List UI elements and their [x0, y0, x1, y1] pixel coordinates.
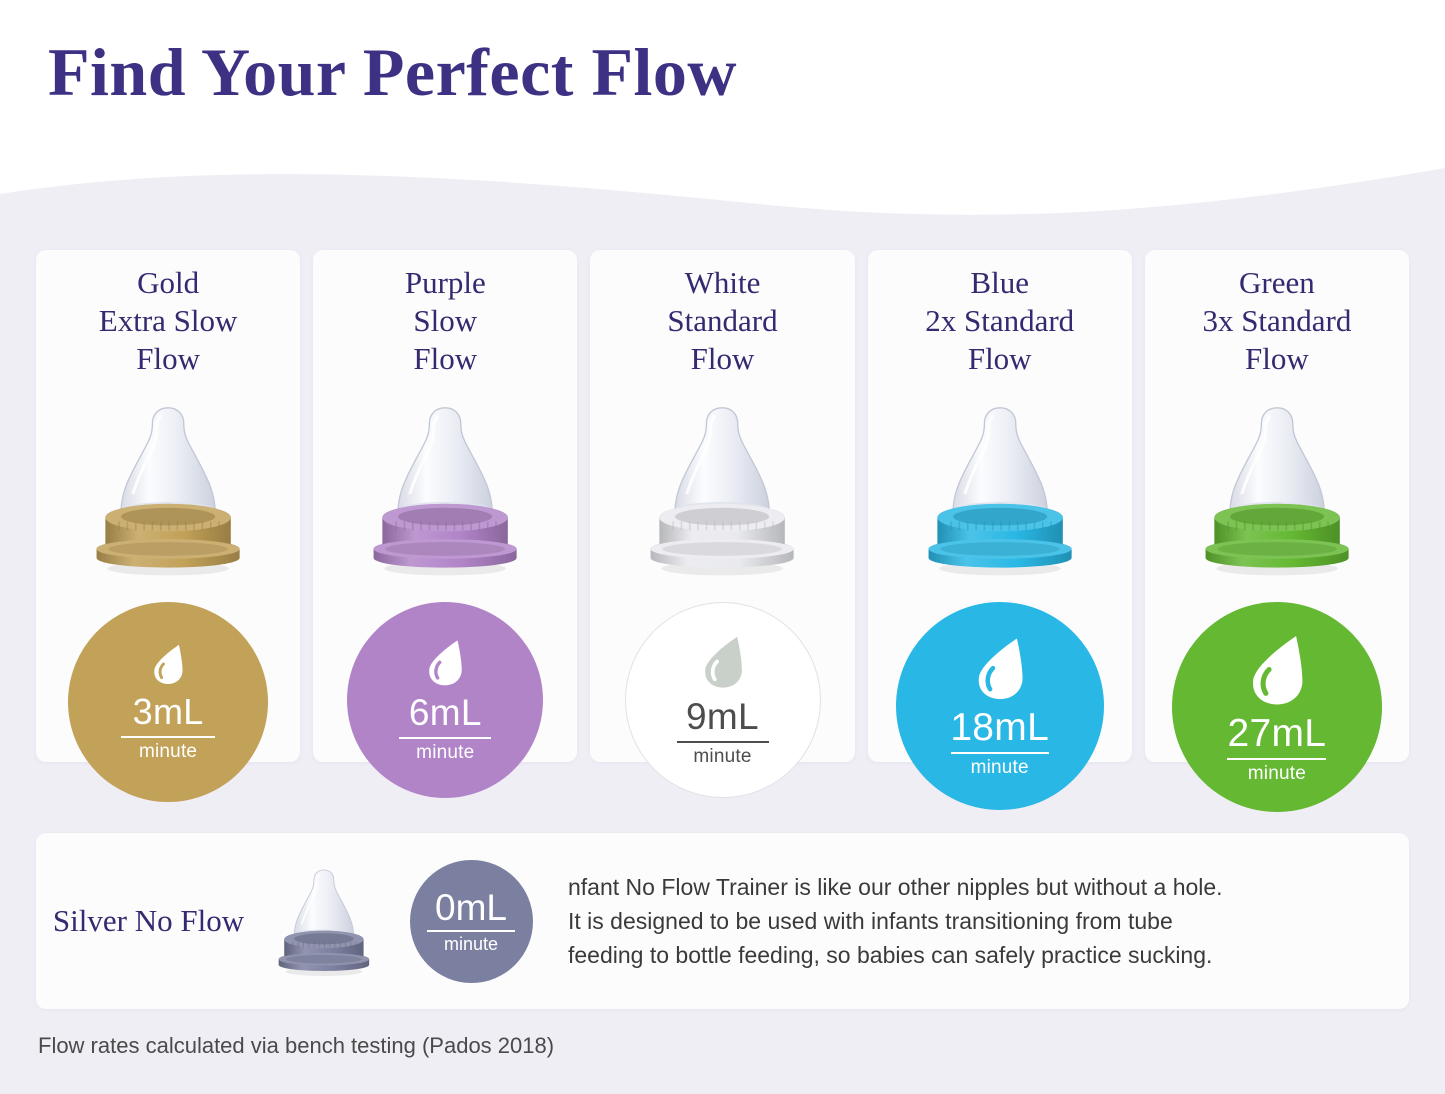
flow-card-white[interactable]: White Standard Flow: [590, 250, 854, 762]
flow-divider: [1227, 758, 1326, 760]
flow-per-unit: minute: [971, 757, 1029, 778]
card-heading-3: Blue 2x Standard Flow: [868, 264, 1132, 378]
flow-divider: [951, 752, 1049, 754]
flow-badge-purple: 6mL minute: [347, 602, 543, 798]
flow-rate-line: Extra Slow: [36, 302, 300, 340]
nipple-image-white: [590, 398, 854, 578]
badge-wrap-4: 27mL minute: [1145, 602, 1409, 812]
nipple-image-green: [1145, 398, 1409, 578]
footnote: Flow rates calculated via bench testing …: [38, 1032, 554, 1060]
card-heading-2: White Standard Flow: [590, 264, 854, 378]
silver-per-unit: minute: [444, 934, 498, 954]
flow-word: Flow: [36, 340, 300, 378]
flow-per-unit: minute: [693, 746, 751, 767]
flow-color-name: Gold: [36, 264, 300, 302]
flow-word: Flow: [590, 340, 854, 378]
badge-wrap-0: 3mL minute: [36, 602, 300, 802]
flow-card-blue[interactable]: Blue 2x Standard Flow: [868, 250, 1132, 762]
flow-card-green[interactable]: Green 3x Standard Flow: [1145, 250, 1409, 762]
flow-per-unit: minute: [139, 741, 197, 762]
badge-wrap-1: 6mL minute: [313, 602, 577, 798]
nipple-image-gold: [36, 398, 300, 578]
flow-color-name: Green: [1145, 264, 1409, 302]
flow-divider: [399, 737, 491, 739]
flow-word: Flow: [1145, 340, 1409, 378]
flow-card-purple[interactable]: Purple Slow Flow: [313, 250, 577, 762]
card-heading-1: Purple Slow Flow: [313, 264, 577, 378]
flow-amount: 6mL: [409, 693, 482, 733]
flow-per-unit: minute: [1248, 763, 1306, 784]
flow-divider: [121, 736, 215, 738]
flow-amount: 3mL: [133, 692, 204, 732]
flow-amount: 9mL: [686, 697, 759, 737]
card-heading-0: Gold Extra Slow Flow: [36, 264, 300, 378]
silver-description: nfant No Flow Trainer is like our other …: [546, 870, 1409, 972]
flow-cards-row: Gold Extra Slow Flow: [36, 250, 1409, 762]
silver-badge-cell: 0mL minute: [396, 860, 546, 983]
silver-label: Silver No Flow: [36, 901, 251, 941]
flow-amount: 27mL: [1228, 714, 1327, 754]
silver-no-flow-panel: Silver No Flow: [36, 833, 1409, 1009]
silver-description-text: nfant No Flow Trainer is like our other …: [568, 870, 1381, 972]
flow-rate-line: 3x Standard: [1145, 302, 1409, 340]
flow-badge-gold: 3mL minute: [68, 602, 268, 802]
flow-badge-green: 27mL minute: [1172, 602, 1382, 812]
badge-wrap-2: 9mL minute: [590, 602, 854, 798]
flow-color-name: Blue: [868, 264, 1132, 302]
flow-amount: 18mL: [950, 708, 1049, 748]
flow-badge-blue: 18mL minute: [896, 602, 1104, 810]
flow-per-unit: minute: [416, 742, 474, 763]
silver-divider: [427, 930, 515, 932]
silver-flow-label: No Flow: [135, 903, 244, 938]
flow-rate-line: 2x Standard: [868, 302, 1132, 340]
flow-word: Flow: [868, 340, 1132, 378]
nipple-image-blue: [868, 398, 1132, 578]
flow-color-name: Purple: [313, 264, 577, 302]
nipple-image-purple: [313, 398, 577, 578]
silver-nipple-image: [251, 865, 396, 978]
card-heading-4: Green 3x Standard Flow: [1145, 264, 1409, 378]
silver-flow-badge: 0mL minute: [410, 860, 533, 983]
flow-card-gold[interactable]: Gold Extra Slow Flow: [36, 250, 300, 762]
flow-color-name: White: [590, 264, 854, 302]
flow-word: Flow: [313, 340, 577, 378]
badge-wrap-3: 18mL minute: [868, 602, 1132, 810]
flow-rate-line: Slow: [313, 302, 577, 340]
silver-amount: 0mL: [435, 888, 507, 927]
flow-divider: [677, 741, 769, 743]
silver-color-name: Silver: [53, 903, 127, 938]
page-title: Find Your Perfect Flow: [48, 38, 737, 106]
flow-badge-white: 9mL minute: [625, 602, 821, 798]
flow-rate-line: Standard: [590, 302, 854, 340]
